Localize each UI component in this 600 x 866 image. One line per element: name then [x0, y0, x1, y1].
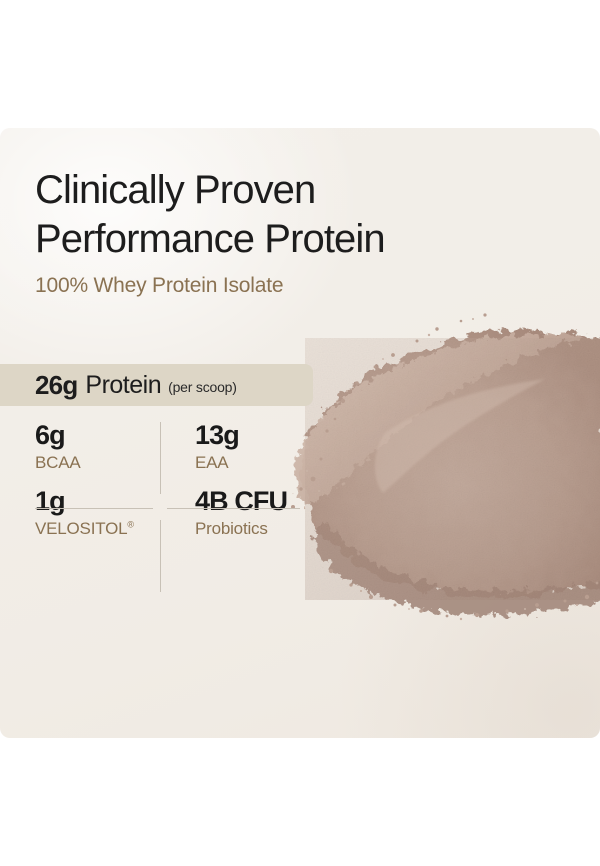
headline-line-2: Performance Protein — [35, 215, 505, 264]
nutrient-value: 4B CFU — [195, 486, 299, 517]
nutrient-label: VELOSITOL® — [35, 518, 167, 540]
product-marketing-image: Clinically Proven Performance Protein 10… — [0, 0, 600, 866]
nutrient-label: BCAA — [35, 452, 167, 474]
grid-divider-vertical-top — [160, 422, 161, 494]
nutrient-label-text: BCAA — [35, 453, 81, 472]
nutrient-label-text: Probiotics — [195, 519, 268, 538]
grid-divider-horizontal-right — [167, 508, 300, 509]
nutrient-cell-bcaa: 6g BCAA — [35, 420, 167, 486]
nutrient-label-text: VELOSITOL — [35, 519, 127, 538]
nutrient-cell-eaa: 13g EAA — [167, 420, 299, 486]
headline-subtitle: 100% Whey Protein Isolate — [35, 273, 505, 299]
nutrient-cell-probiotics: 4B CFU Probiotics — [167, 486, 299, 552]
protein-highlight-badge: 26g Protein (per scoop) — [0, 364, 313, 406]
grid-divider-vertical-bottom — [160, 520, 161, 592]
nutrient-row-2: 1g VELOSITOL® 4B CFU Probiotics — [35, 486, 300, 552]
protein-amount: 26g — [35, 370, 77, 401]
nutrient-value: 6g — [35, 420, 167, 451]
protein-serving-note: (per scoop) — [168, 379, 237, 395]
nutrient-cell-velositol: 1g VELOSITOL® — [35, 486, 167, 552]
hero-card: Clinically Proven Performance Protein 10… — [0, 128, 600, 738]
headline-block: Clinically Proven Performance Protein 10… — [35, 166, 505, 299]
grid-divider-horizontal-left — [35, 508, 153, 509]
nutrient-value: 13g — [195, 420, 299, 451]
nutrient-value: 1g — [35, 486, 167, 517]
registered-mark: ® — [127, 519, 133, 529]
nutrient-label: Probiotics — [195, 518, 299, 540]
nutrient-grid: 6g BCAA 13g EAA 1g VELOSITOL® 4B CFU Pro… — [35, 420, 300, 552]
nutrient-label: EAA — [195, 452, 299, 474]
protein-label: Protein — [85, 371, 161, 400]
headline-line-1: Clinically Proven — [35, 166, 505, 215]
nutrient-label-text: EAA — [195, 453, 228, 472]
nutrient-row-1: 6g BCAA 13g EAA — [35, 420, 300, 486]
